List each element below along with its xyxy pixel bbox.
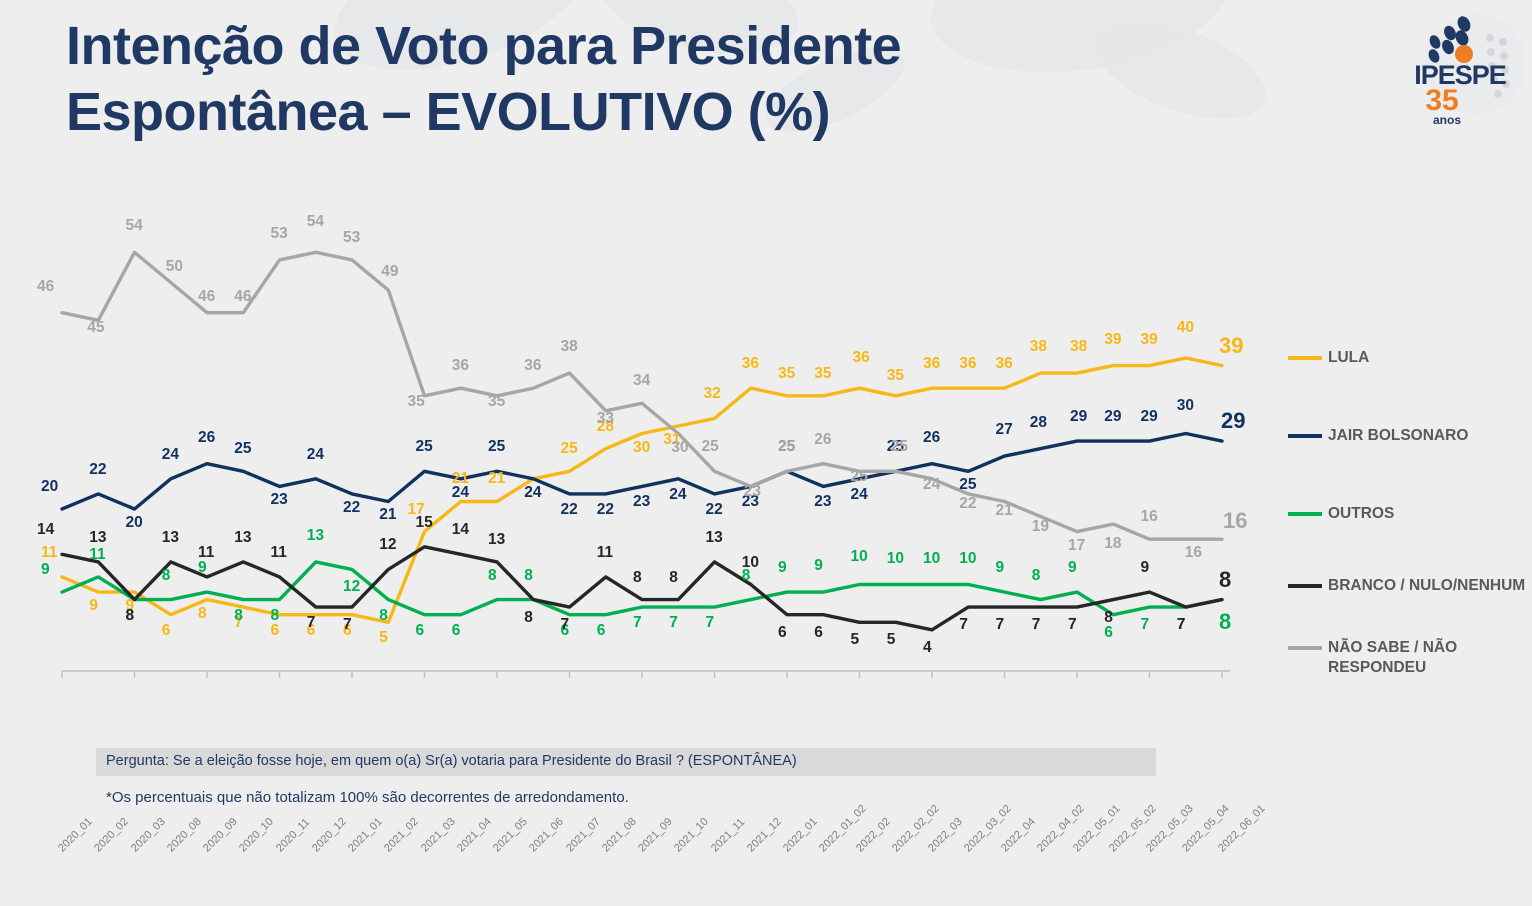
data-label: 8 <box>126 607 135 625</box>
data-label: 26 <box>923 429 940 447</box>
data-label: 53 <box>271 225 288 243</box>
legend-item-jair-bolsonaro[interactable]: JAIR BOLSONARO <box>1288 426 1468 446</box>
data-label: 7 <box>706 614 715 632</box>
data-label: 22 <box>561 501 578 519</box>
legend-swatch-icon <box>1288 356 1322 360</box>
data-label: 6 <box>416 622 425 640</box>
data-label: 7 <box>307 614 316 632</box>
data-label: 8 <box>162 567 171 585</box>
data-label: 10 <box>851 548 868 566</box>
data-label: 13 <box>706 529 723 547</box>
data-label: 12 <box>343 578 360 596</box>
x-axis-tick-label: 2020_12 <box>310 816 349 855</box>
x-axis-tick-label: 2020_02 <box>92 816 131 855</box>
data-label: 11 <box>41 544 57 562</box>
logo-anos-label: anos <box>1404 113 1490 127</box>
x-axis-tick-label: 2022_04 <box>999 816 1038 855</box>
data-label: 18 <box>1104 535 1121 553</box>
data-label: 7 <box>633 614 642 632</box>
data-label: 8 <box>669 569 678 587</box>
data-label: 24 <box>669 486 686 504</box>
data-label: 26 <box>814 431 831 449</box>
data-label: 39 <box>1219 333 1243 359</box>
x-axis-tick-label: 2021_08 <box>600 816 639 855</box>
data-label: 35 <box>887 367 904 385</box>
data-label: 25 <box>778 438 795 456</box>
data-label: 36 <box>742 355 759 373</box>
data-label: 9 <box>996 559 1005 577</box>
data-label: 30 <box>671 439 688 457</box>
data-label: 13 <box>234 529 251 547</box>
data-label: 9 <box>41 561 50 579</box>
x-axis-tick-label: 2021_09 <box>636 816 675 855</box>
data-label: 8 <box>379 607 388 625</box>
data-label: 39 <box>1141 331 1158 349</box>
data-label: 14 <box>452 521 469 539</box>
legend-swatch-icon <box>1288 512 1322 516</box>
data-label: 6 <box>162 622 171 640</box>
data-label: 4 <box>923 639 932 657</box>
data-label: 24 <box>162 446 179 464</box>
data-label: 20 <box>126 514 143 532</box>
data-label: 7 <box>1141 616 1150 634</box>
x-axis-tick-label: 2021_04 <box>455 816 494 855</box>
data-label: 46 <box>234 288 251 306</box>
data-label: 32 <box>704 385 721 403</box>
data-label: 29 <box>1104 408 1121 426</box>
data-label: 14 <box>37 521 54 539</box>
data-label: 30 <box>1177 397 1194 415</box>
data-label: 24 <box>307 446 324 464</box>
data-label: 27 <box>996 421 1013 439</box>
data-label: 8 <box>1032 567 1041 585</box>
data-label: 25 <box>234 440 251 458</box>
data-label: 7 <box>669 614 678 632</box>
x-axis-tick-label: 2022_02 <box>854 816 893 855</box>
data-label: 6 <box>597 622 606 640</box>
data-label: 50 <box>166 258 183 276</box>
data-label: 22 <box>706 501 723 519</box>
data-label: 25 <box>488 438 505 456</box>
data-label: 10 <box>887 550 904 568</box>
data-label: 9 <box>814 557 823 575</box>
x-axis-tick-label: 2020_11 <box>274 816 312 854</box>
data-label: 23 <box>271 491 288 509</box>
data-label: 8 <box>198 605 207 623</box>
data-label: 17 <box>1068 537 1085 555</box>
data-label: 36 <box>452 357 469 375</box>
data-label: 35 <box>488 393 505 411</box>
data-label: 8 <box>488 567 497 585</box>
evolution-line-chart: 1199687666517212124252830313236353536353… <box>0 160 1290 680</box>
data-label: 24 <box>923 476 940 494</box>
data-label: 24 <box>524 484 541 502</box>
data-label: 16 <box>1223 508 1247 534</box>
data-label: 8 <box>524 567 533 585</box>
data-label: 46 <box>37 278 54 296</box>
data-label: 35 <box>814 365 831 383</box>
data-label: 45 <box>87 319 104 337</box>
data-label: 22 <box>959 495 976 513</box>
data-label: 8 <box>234 607 243 625</box>
data-label: 24 <box>452 484 469 502</box>
data-label: 12 <box>379 536 396 554</box>
data-label: 38 <box>561 338 578 356</box>
x-axis-tick-label: 2021_06 <box>527 816 566 855</box>
legend-label: NÃO SABE / NÃO RESPONDEU <box>1328 638 1532 678</box>
data-label: 22 <box>89 461 106 479</box>
data-label: 25 <box>416 438 433 456</box>
data-label: 36 <box>959 355 976 373</box>
data-label: 7 <box>959 616 968 634</box>
data-label: 7 <box>996 616 1005 634</box>
data-label: 5 <box>887 631 896 649</box>
data-label: 7 <box>1068 616 1077 634</box>
ipespe-logo: IPESPE 35 anos <box>1398 12 1524 130</box>
data-label: 11 <box>597 544 613 562</box>
data-label: 13 <box>162 529 179 547</box>
data-label: 29 <box>1070 408 1087 426</box>
data-label: 7 <box>1177 616 1186 634</box>
data-label: 16 <box>1141 508 1158 526</box>
data-label: 11 <box>271 544 287 562</box>
data-label: 21 <box>996 502 1013 520</box>
x-axis-tick-label: 2021_03 <box>419 816 458 855</box>
data-label: 38 <box>1070 338 1087 356</box>
data-label: 54 <box>126 217 143 235</box>
data-label: 15 <box>416 514 433 532</box>
data-label: 10 <box>923 550 940 568</box>
data-label: 22 <box>597 501 614 519</box>
data-label: 36 <box>853 349 870 367</box>
data-label: 21 <box>488 470 505 488</box>
data-label: 46 <box>198 288 215 306</box>
data-label: 9 <box>1141 559 1150 577</box>
data-label: 13 <box>307 527 324 545</box>
x-axis-tick-label: 2020_10 <box>237 816 276 855</box>
data-label: 10 <box>959 550 976 568</box>
legend-item-outros[interactable]: OUTROS <box>1288 504 1394 524</box>
data-label: 10 <box>742 554 759 572</box>
legend-item-n-o-sabe-n-o-respondeu[interactable]: NÃO SABE / NÃO RESPONDEU <box>1288 638 1532 678</box>
data-label: 39 <box>1104 331 1121 349</box>
data-label: 30 <box>633 439 650 457</box>
data-label: 34 <box>633 372 650 390</box>
data-label: 13 <box>89 529 106 547</box>
data-label: 35 <box>408 393 425 411</box>
legend-swatch-icon <box>1288 434 1322 438</box>
x-axis-tick-label: 2021_07 <box>564 816 603 855</box>
data-label: 9 <box>1068 559 1077 577</box>
data-label: 8 <box>1104 609 1113 627</box>
data-label: 38 <box>1030 338 1047 356</box>
data-label: 8 <box>1219 609 1231 635</box>
data-label: 23 <box>744 483 761 501</box>
data-label: 25 <box>561 440 578 458</box>
data-label: 29 <box>1221 408 1245 434</box>
data-label: 9 <box>778 559 787 577</box>
data-label: 19 <box>1032 518 1049 536</box>
legend-swatch-icon <box>1288 584 1322 588</box>
x-axis-tick-label: 2020_01 <box>56 816 95 855</box>
data-label: 8 <box>271 607 280 625</box>
data-label: 6 <box>814 624 823 642</box>
chart-plot-area <box>0 160 1290 680</box>
x-axis-tick-label: 2021_01 <box>346 816 385 855</box>
data-label: 6 <box>778 624 787 642</box>
data-label: 7 <box>1032 616 1041 634</box>
data-label: 21 <box>379 506 396 524</box>
data-label: 26 <box>198 429 215 447</box>
data-label: 6 <box>452 622 461 640</box>
data-label: 49 <box>381 263 398 281</box>
data-label: 7 <box>561 616 570 634</box>
data-label: 7 <box>343 616 352 634</box>
data-label: 28 <box>1030 414 1047 432</box>
x-axis-tick-label: 2021_02 <box>382 816 421 855</box>
legend-label: JAIR BOLSONARO <box>1328 426 1468 446</box>
x-axis-tick-label: 2022_03 <box>926 816 965 855</box>
data-label: 20 <box>41 478 58 496</box>
data-label: 23 <box>814 493 831 511</box>
data-label: 8 <box>524 609 533 627</box>
x-axis-tick-label: 2022_01 <box>781 816 820 855</box>
data-label: 36 <box>524 357 541 375</box>
page-title: Intenção de Voto para Presidente Espontâ… <box>66 14 1186 146</box>
data-label: 8 <box>1219 567 1231 593</box>
x-axis-tick-label: 2020_03 <box>129 816 168 855</box>
x-axis-tick-label: 2021_11 <box>709 816 747 854</box>
data-label: 9 <box>89 597 98 615</box>
legend-item-lula[interactable]: LULA <box>1288 348 1369 368</box>
data-label: 33 <box>597 410 614 428</box>
data-label: 53 <box>343 229 360 247</box>
data-label: 25 <box>702 438 719 456</box>
data-label: 24 <box>851 486 868 504</box>
x-axis-tick-label: 2021_10 <box>672 816 711 855</box>
legend-swatch-icon <box>1288 646 1322 650</box>
data-label: 5 <box>379 629 388 647</box>
series-line-lula <box>62 358 1222 622</box>
data-label: 11 <box>198 544 214 562</box>
data-label: 25 <box>959 476 976 494</box>
legend-label: BRANCO / NULO/NENHUM <box>1328 576 1525 596</box>
data-label: 11 <box>89 546 105 564</box>
legend-label: OUTROS <box>1328 504 1394 524</box>
data-label: 23 <box>633 493 650 511</box>
x-axis-labels: 2020_012020_022020_032020_082020_092020_… <box>0 836 1290 906</box>
data-label: 36 <box>996 355 1013 373</box>
question-text: Pergunta: Se a eleição fosse hoje, em qu… <box>106 753 797 769</box>
x-axis-tick-label: 2020_09 <box>201 816 240 855</box>
data-label: 29 <box>1141 408 1158 426</box>
data-label: 5 <box>851 631 860 649</box>
legend-label: LULA <box>1328 348 1369 368</box>
data-label: 8 <box>633 569 642 587</box>
data-label: 35 <box>778 365 795 383</box>
data-label: 16 <box>1185 544 1202 562</box>
data-label: 36 <box>923 355 940 373</box>
data-label: 40 <box>1177 319 1194 337</box>
data-label: 25 <box>851 468 868 486</box>
data-label: 13 <box>488 531 505 549</box>
x-axis-tick-label: 2021_12 <box>745 816 784 855</box>
data-label: 54 <box>307 213 324 231</box>
rounding-note: *Os percentuais que não totalizam 100% s… <box>106 789 629 806</box>
x-axis-tick-label: 2020_08 <box>165 816 204 855</box>
legend-item-branco-nulo-nenhum[interactable]: BRANCO / NULO/NENHUM <box>1288 576 1525 596</box>
data-label: 22 <box>343 499 360 517</box>
x-axis-tick-label: 2021_05 <box>491 816 530 855</box>
data-label: 25 <box>891 438 908 456</box>
